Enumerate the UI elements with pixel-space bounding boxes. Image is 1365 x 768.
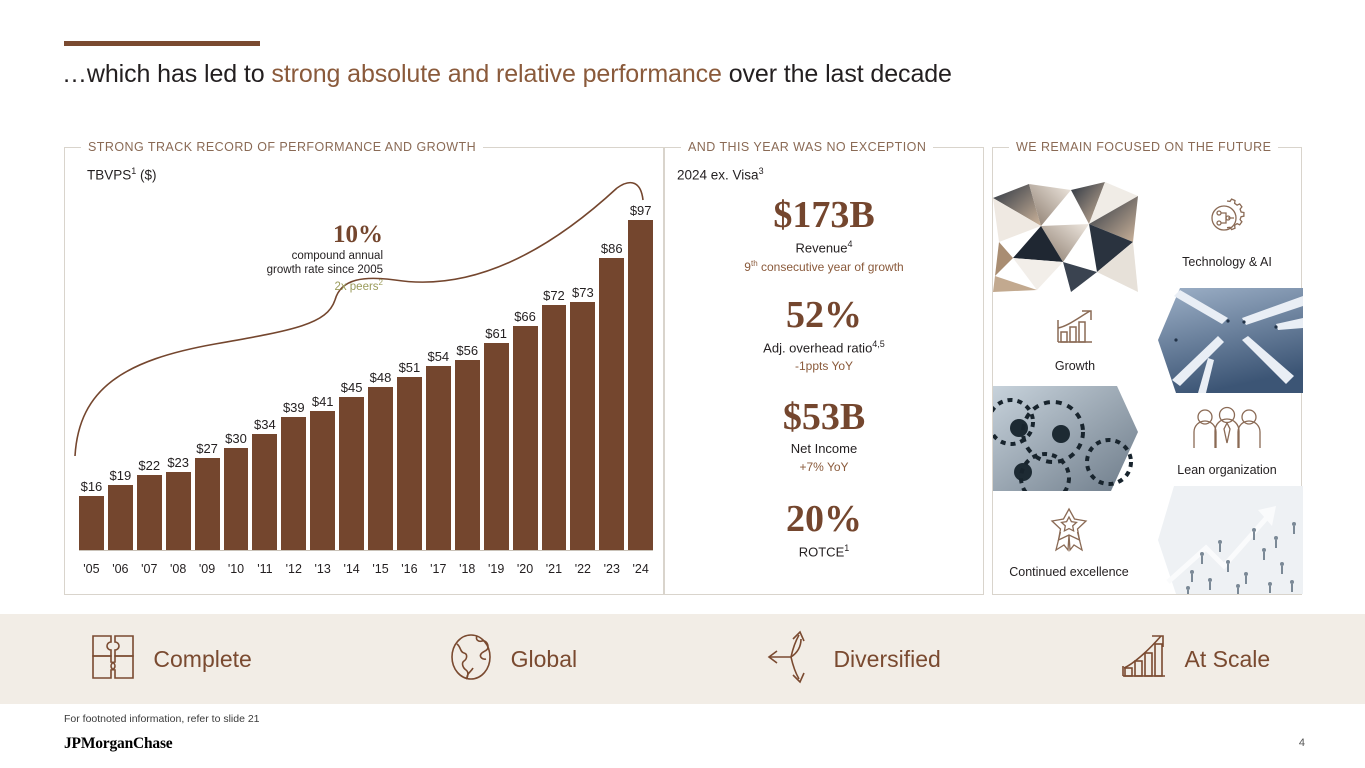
x-tick-label: '10 [224,562,249,576]
future-grid: Technology & AI Growth [993,148,1301,594]
globe-icon [447,632,495,687]
pillar-at-scale[interactable]: At Scale [1024,632,1365,687]
bar [542,305,567,550]
bar-value-label: $51 [399,360,421,375]
x-tick-label: '20 [513,562,538,576]
bar-value-label: $19 [110,468,132,483]
bar-value-label: $41 [312,394,334,409]
bar-value-label: $73 [572,285,594,300]
bar-column: $27 [195,210,220,550]
cagr-peers: 2x peers2 [243,278,383,293]
bar-value-label: $97 [630,203,652,218]
future-item-label: Lean organization [1177,463,1276,477]
bar-value-label: $61 [485,326,507,341]
bar-column: $54 [426,210,451,550]
bar-column: $97 [628,210,653,550]
stat-value: $173B [665,196,983,236]
bar-value-label: $86 [601,241,623,256]
chart-x-axis: '05'06'07'08'09'10'11'12'13'14'15'16'17'… [79,562,653,576]
page-title: …which has led to strong absolute and re… [62,60,952,89]
future-item-label: Technology & AI [1182,255,1272,269]
bar-column: $73 [570,210,595,550]
bar-value-label: $22 [138,458,160,473]
bar [224,448,249,550]
branching-arrows-icon [765,630,817,689]
bar [484,343,509,550]
bar-value-label: $27 [196,441,218,456]
x-tick-label: '05 [79,562,104,576]
x-tick-label: '14 [339,562,364,576]
bar [368,387,393,550]
cagr-value: 10% [243,221,383,249]
headline-highlight: strong absolute and relative performance [271,60,721,88]
bar-chart-arrow-icon [1119,632,1169,687]
stat-block: 52%Adj. overhead ratio4,5-1ppts YoY [665,296,983,373]
x-tick-label: '09 [195,562,220,576]
headline-suffix: over the last decade [722,60,952,88]
bar-value-label: $66 [514,309,536,324]
bar-column: $56 [455,210,480,550]
bar [455,360,480,550]
chart-baseline [79,550,653,551]
bar [310,411,335,550]
bar [281,417,306,550]
x-tick-label: '11 [252,562,277,576]
bar-column: $72 [542,210,567,550]
bar [628,220,653,550]
crowd-arrow-photo [1158,486,1303,594]
cagr-line2: growth rate since 2005 [243,263,383,278]
bar-column: $66 [513,210,538,550]
bar-value-label: $45 [341,380,363,395]
bar [339,397,364,550]
bar [397,377,422,550]
bar [426,366,451,550]
page-number: 4 [1299,737,1305,749]
x-tick-label: '07 [137,562,162,576]
bar-value-label: $54 [427,349,449,364]
year-subnote-text: 2024 ex. Visa [677,168,759,183]
x-tick-label: '16 [397,562,422,576]
bar-column: $23 [166,210,191,550]
bar [166,472,191,550]
stat-label: Adj. overhead ratio4,5 [665,339,983,355]
bar [108,485,133,550]
bar-column: $16 [79,210,104,550]
bar-value-label: $23 [167,455,189,470]
stat-delta: -1ppts YoY [665,359,983,373]
stat-block: $173BRevenue49th consecutive year of gro… [665,196,983,274]
bar [599,258,624,550]
pillar-complete[interactable]: Complete [0,632,341,687]
growth-chart-arrow-icon [1001,306,1149,351]
stat-block: $53BNet Income+7% YoY [665,398,983,474]
pillar-label: Diversified [833,646,940,673]
bar-value-label: $72 [543,288,565,303]
bar-column: $61 [484,210,509,550]
bar-value-label: $30 [225,431,247,446]
bar-column: $86 [599,210,624,550]
x-tick-label: '21 [542,562,567,576]
year-subnote: 2024 ex. Visa3 [677,166,764,183]
accent-rule [64,41,260,46]
pillar-label: Complete [153,646,251,673]
chart-y-axis-label: TBVPS1 ($) [87,166,157,183]
pillar-label: At Scale [1185,646,1271,673]
future-item-continued-excellence: Continued excellence [995,506,1143,581]
bar-column: $51 [397,210,422,550]
future-item-technology-ai: Technology & AI [1153,196,1301,271]
bar [252,434,277,550]
bar [137,475,162,550]
chart-panel: STRONG TRACK RECORD OF PERFORMANCE AND G… [64,147,664,595]
bar [570,302,595,550]
metal-gears-photo [993,386,1138,491]
stat-label: Net Income [665,441,983,456]
pillar-global[interactable]: Global [341,632,682,687]
future-item-lean-organization: Lean organization [1153,406,1301,479]
pillars-band: Complete Global [0,614,1365,704]
future-item-label: Continued excellence [1009,565,1129,579]
cagr-peers-sup: 2 [379,278,383,287]
bar [195,458,220,550]
bar [513,326,538,550]
x-tick-label: '06 [108,562,133,576]
x-tick-label: '13 [310,562,335,576]
stat-label: Revenue4 [665,239,983,255]
abstract-facets-photo [993,180,1138,292]
x-tick-label: '08 [166,562,191,576]
headline-prefix: …which has led to [62,60,271,88]
year-panel: AND THIS YEAR WAS NO EXCEPTION 2024 ex. … [664,147,984,595]
future-panel: WE REMAIN FOCUSED ON THE FUTURE [992,147,1302,595]
future-item-label: Growth [1055,359,1095,373]
x-tick-label: '23 [599,562,624,576]
stat-value: $53B [665,398,983,438]
x-tick-label: '24 [628,562,653,576]
stat-delta: +7% YoY [665,460,983,474]
blue-sky-beams-photo [1158,288,1303,393]
jpmorganchase-logo: JPMorganChase [64,735,172,753]
cagr-annotation: 10% compound annual growth rate since 20… [243,221,383,293]
cagr-peers-text: 2x peers [334,281,378,293]
bar-value-label: $56 [456,343,478,358]
year-panel-title: AND THIS YEAR WAS NO EXCEPTION [681,140,933,154]
pillar-label: Global [511,646,577,673]
bar-column: $19 [108,210,133,550]
pillar-diversified[interactable]: Diversified [683,630,1024,689]
slide: …which has led to strong absolute and re… [0,0,1365,768]
three-people-icon [1153,406,1301,455]
stat-delta: 9th consecutive year of growth [665,259,983,274]
x-tick-label: '18 [455,562,480,576]
stat-value: 52% [665,296,983,336]
gear-circuit-icon [1153,196,1301,247]
puzzle-icon [89,632,137,687]
year-subnote-sup: 3 [759,166,764,176]
bar-value-label: $34 [254,417,276,432]
bar-value-label: $16 [81,479,103,494]
stat-label: ROTCE1 [665,543,983,559]
cagr-line1: compound annual [243,249,383,264]
bar-value-label: $48 [370,370,392,385]
bar-value-label: $39 [283,400,305,415]
x-tick-label: '12 [281,562,306,576]
stat-value: 20% [665,500,983,540]
stat-block: 20%ROTCE1 [665,500,983,559]
award-ribbon-icon [995,506,1143,557]
x-tick-label: '15 [368,562,393,576]
x-tick-label: '19 [484,562,509,576]
footnote: For footnoted information, refer to slid… [64,713,260,725]
bar-column: $22 [137,210,162,550]
chart-panel-title: STRONG TRACK RECORD OF PERFORMANCE AND G… [81,140,483,154]
x-tick-label: '17 [426,562,451,576]
x-tick-label: '22 [570,562,595,576]
future-item-growth: Growth [1001,306,1149,375]
bar [79,496,104,550]
